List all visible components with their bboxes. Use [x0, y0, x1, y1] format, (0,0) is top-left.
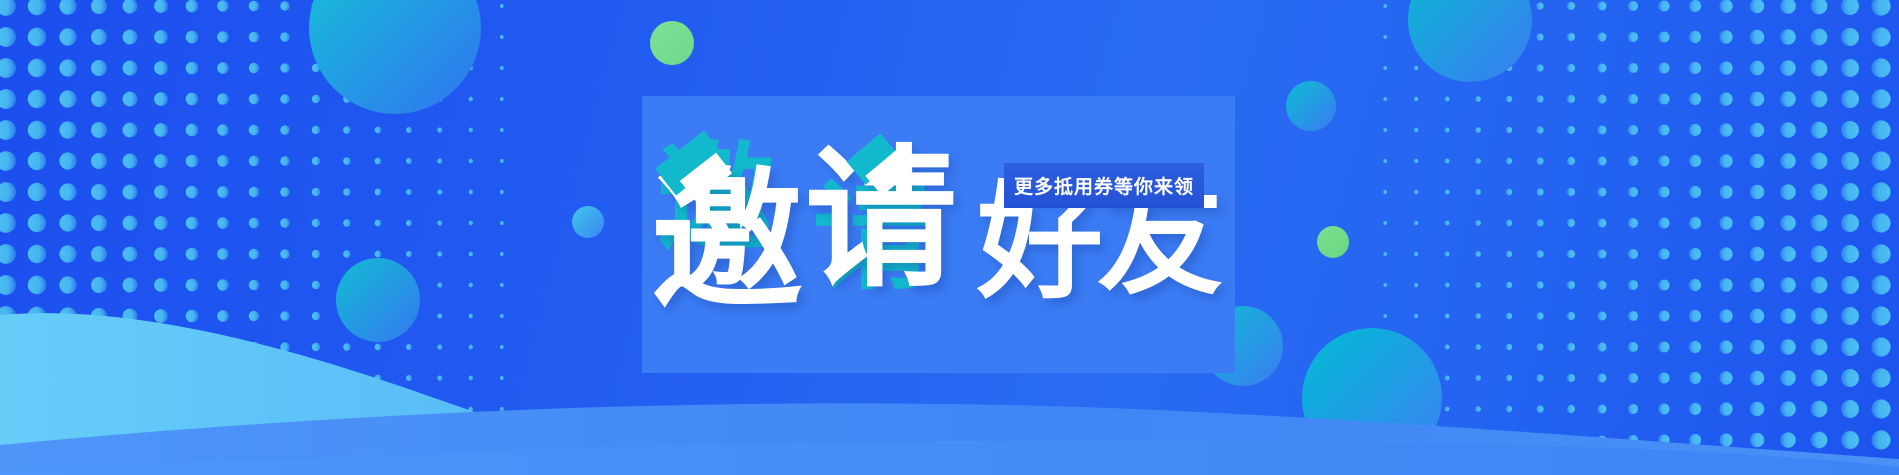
green-circle-top — [650, 21, 694, 65]
teal-circle-top-left — [309, 0, 481, 114]
wave-light-path — [0, 313, 620, 475]
green-dot-mid-right — [1317, 226, 1349, 258]
teal-circle-far-right — [1408, 0, 1532, 82]
teal-dot-center-left — [572, 206, 604, 238]
invite-friends-banner: 邀 请 邀 请 好 友 更多抵用券等你来领 — [0, 0, 1899, 475]
wave-medium-path — [0, 403, 1899, 475]
promo-badge[interactable]: 更多抵用券等你来领 — [1004, 163, 1204, 208]
teal-circle-left-mid — [336, 258, 420, 342]
wave-front-path — [0, 440, 1899, 475]
promo-badge-label: 更多抵用券等你来领 — [1014, 172, 1194, 199]
teal-circle-bottom-right — [1302, 328, 1442, 468]
page-title: 邀 请 邀 请 好 友 — [665, 118, 1225, 348]
teal-dot-upper-right — [1286, 81, 1336, 131]
